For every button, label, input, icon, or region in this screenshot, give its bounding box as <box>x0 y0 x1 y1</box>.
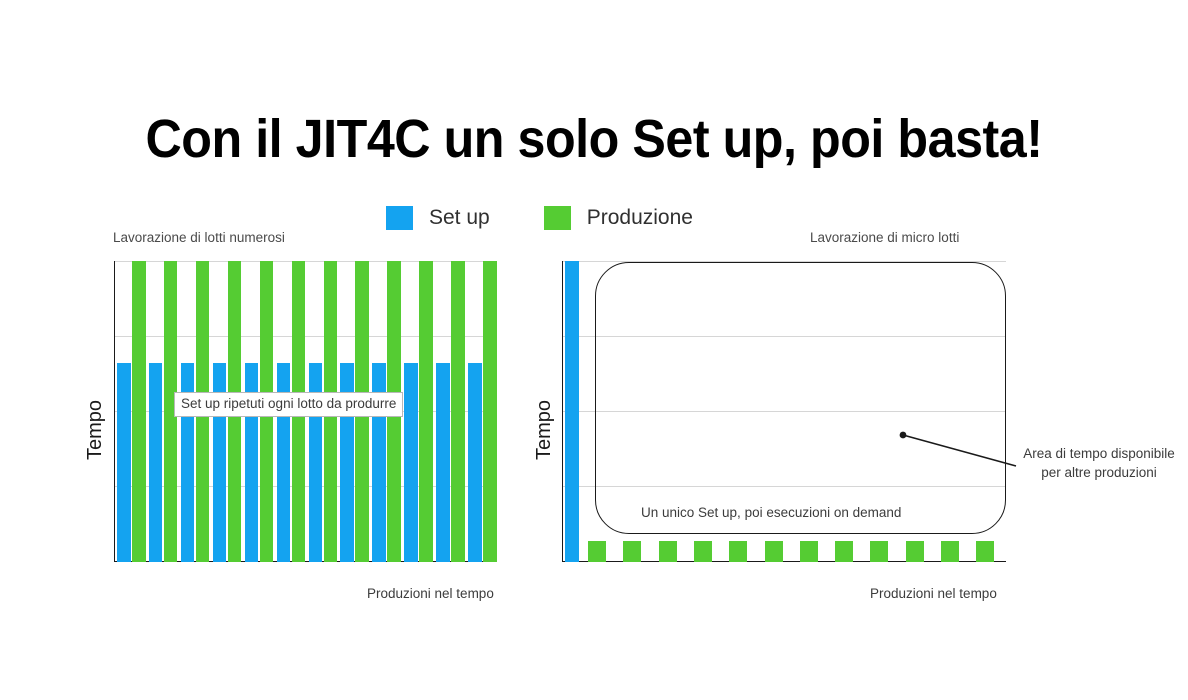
callout-leader-line <box>0 0 1188 700</box>
right-chart-side-note: Area di tempo disponibile per altre prod… <box>1019 444 1179 482</box>
right-chart-x-axis-label: Produzioni nel tempo <box>870 586 997 601</box>
